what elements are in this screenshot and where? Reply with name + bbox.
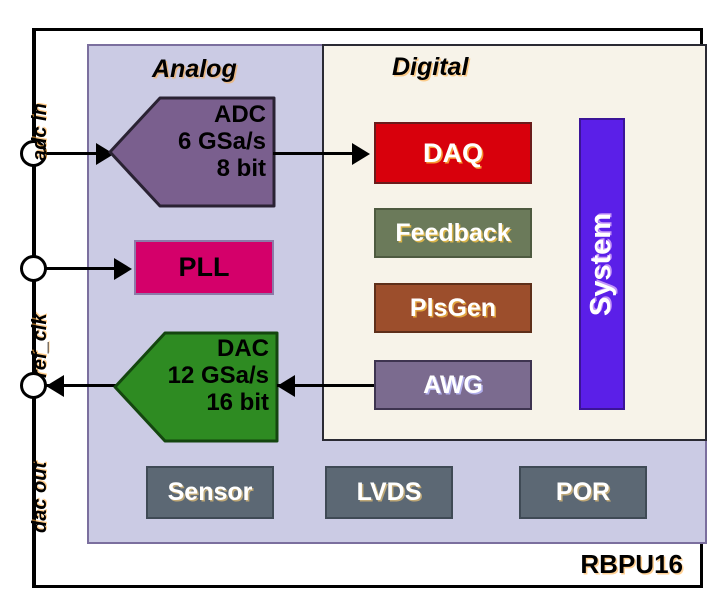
wire-adc-to-daq (273, 152, 361, 155)
part-number-label: RBPU16 (580, 549, 683, 580)
dac-line-2: 12 GSa/s (168, 363, 269, 390)
arrow-adc-to-daq (352, 143, 370, 165)
analog-section-title: Analog (152, 55, 237, 84)
arrow-awg-to-dac (277, 375, 295, 397)
daq-block[interactable]: DAQ (374, 122, 532, 184)
lvds-block[interactable]: LVDS (325, 466, 453, 519)
adc-line-1: ADC (178, 102, 266, 129)
dac-line-3: 16 bit (168, 390, 269, 417)
dac-line-1: DAC (168, 336, 269, 363)
port-label-ref-clk: ref_clk (29, 314, 52, 379)
arrow-dac-out (46, 375, 64, 397)
adc-block[interactable]: ADC 6 GSa/s 8 bit (108, 96, 276, 208)
pll-block[interactable]: PLL (134, 240, 274, 295)
adc-line-2: 6 GSa/s (178, 129, 266, 156)
dac-block-label: DAC 12 GSa/s 16 bit (168, 336, 269, 417)
feedback-block[interactable]: Feedback (374, 208, 532, 258)
plsgen-block[interactable]: PlsGen (374, 283, 532, 333)
por-block[interactable]: POR (519, 466, 647, 519)
system-block[interactable]: System (579, 118, 625, 410)
dac-block[interactable]: DAC 12 GSa/s 16 bit (113, 331, 279, 443)
sensor-block[interactable]: Sensor (146, 466, 274, 519)
system-block-label: System (586, 212, 619, 315)
awg-block[interactable]: AWG (374, 360, 532, 410)
adc-line-3: 8 bit (178, 156, 266, 183)
port-label-adc-in: adc in (29, 103, 52, 161)
adc-block-label: ADC 6 GSa/s 8 bit (178, 102, 266, 183)
digital-section-title: Digital (392, 53, 468, 82)
terminal-dac-out[interactable] (20, 372, 47, 399)
terminal-ref-clk[interactable] (20, 255, 47, 282)
block-diagram-canvas: Analog Digital adc in ADC 6 GSa/s 8 bit … (0, 0, 725, 614)
arrow-ref-clk (114, 258, 132, 280)
port-label-dac-out: dac out (29, 462, 52, 533)
